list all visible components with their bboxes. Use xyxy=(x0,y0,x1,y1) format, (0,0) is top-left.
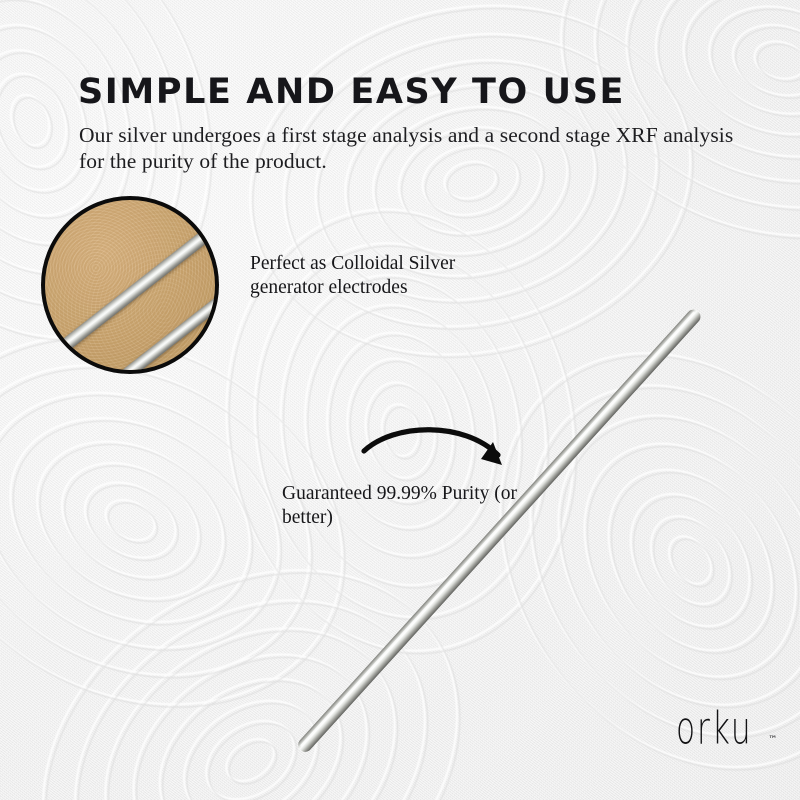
trademark-symbol: ™ xyxy=(768,735,777,745)
electrodes-caption: Perfect as Colloidal Silver generator el… xyxy=(250,252,500,300)
poster-canvas: SIMPLE AND EASY TO USE Our silver underg… xyxy=(0,0,800,800)
page-title: SIMPLE AND EASY TO USE xyxy=(78,72,625,112)
purity-caption: Guaranteed 99.99% Purity (or better) xyxy=(282,482,522,530)
page-subtitle: Our silver undergoes a first stage analy… xyxy=(79,122,749,174)
curved-arrow-icon xyxy=(360,415,525,485)
brand-logo: orku ™ xyxy=(676,714,777,748)
brand-name: orku xyxy=(676,710,753,748)
circular-closeup-image xyxy=(41,196,219,374)
background-contour-pattern xyxy=(0,0,800,800)
